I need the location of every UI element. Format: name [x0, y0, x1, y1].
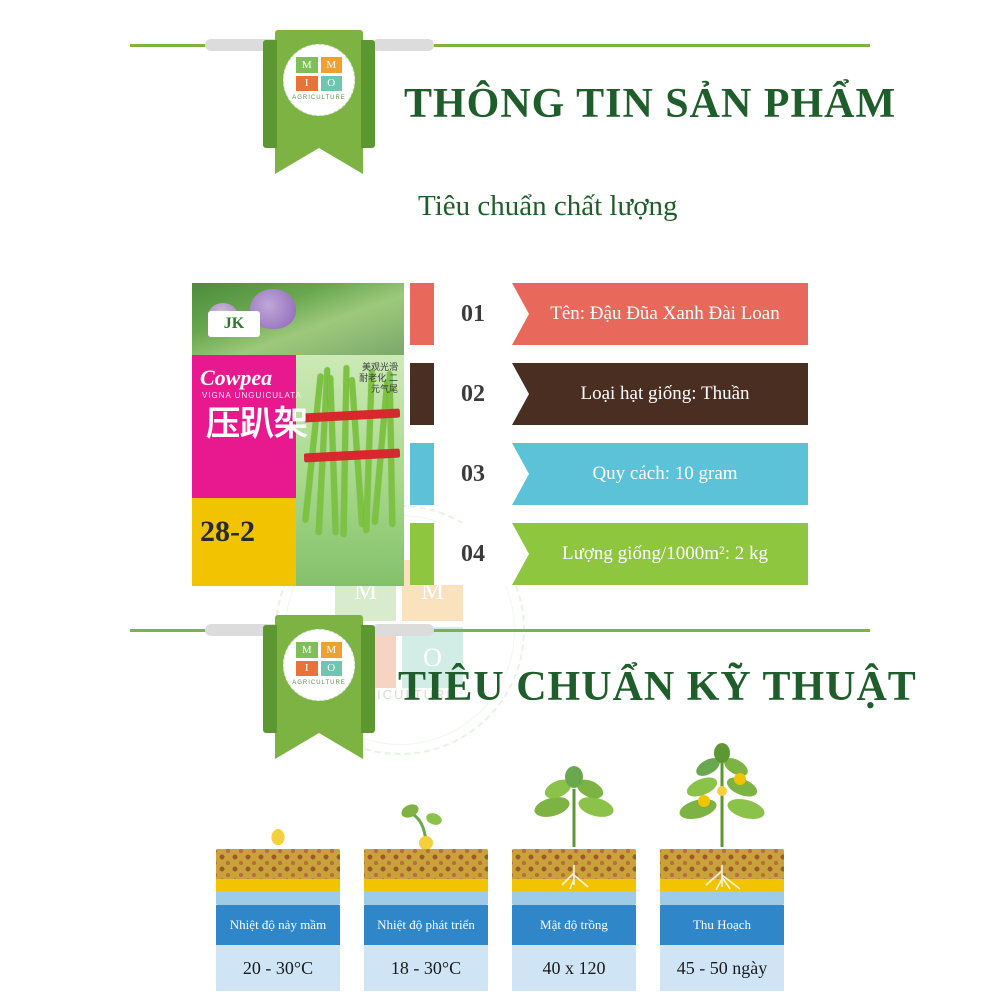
soil-base	[660, 891, 784, 905]
info-row-number: 04	[461, 541, 485, 568]
logo-cell-4: O	[321, 76, 343, 92]
logo-cell-2: M	[321, 57, 343, 73]
tech-card-label: Nhiệt độ nảy mầm	[216, 905, 340, 945]
seed-icon	[216, 775, 340, 849]
flowering-plant-svg	[660, 735, 784, 849]
sprout-svg	[364, 775, 488, 849]
banner2-side-right	[361, 625, 375, 733]
brand-logo-2: M M I O AGRICULTURE	[283, 629, 355, 701]
info-row-number-tag: 01	[434, 283, 512, 345]
brand-banner-top: M M I O AGRICULTURE	[275, 30, 363, 174]
packet-brand-mark: JK	[208, 311, 260, 337]
brand-logo-grid: M M I O	[296, 57, 342, 91]
info-row: 01 Tên: Đậu Đũa Xanh Đài Loan	[410, 283, 808, 345]
tech-card-value: 20 - 30°C	[216, 945, 340, 991]
root-svg	[512, 865, 636, 891]
packet-vertical-text: 美观光滑 耐老化 二元气尾	[358, 363, 398, 396]
tech-card: Nhiệt độ nảy mầm 20 - 30°C	[216, 775, 340, 991]
tech-card-value: 45 - 50 ngày	[660, 945, 784, 991]
brand-logo: M M I O AGRICULTURE	[283, 44, 355, 116]
info-row-text: Tên: Đậu Đũa Xanh Đài Loan	[528, 283, 802, 345]
soil-block	[660, 849, 784, 905]
sprout-icon	[364, 775, 488, 849]
soil-block	[364, 849, 488, 905]
tech-card-label: Nhiệt độ phát triển	[364, 905, 488, 945]
packet-product-title: Cowpea	[200, 365, 272, 391]
tech-card-value: 18 - 30°C	[364, 945, 488, 991]
tech-card-value: 40 x 120	[512, 945, 636, 991]
section-title-product-info: THÔNG TIN SẢN PHẨM	[404, 80, 896, 128]
banner2-side-left	[263, 625, 277, 733]
logo-caption: AGRICULTURE	[284, 95, 354, 101]
section-title-technical: TIÊU CHUẨN KỸ THUẬT	[398, 663, 917, 711]
soil-base	[512, 891, 636, 905]
banner-side-left	[263, 40, 277, 148]
tech-card-label: Thu Hoạch	[660, 905, 784, 945]
info-row-arrow-icon	[512, 283, 529, 345]
logo2-cell-4: O	[321, 661, 343, 677]
root-svg	[660, 865, 784, 891]
packet-chinese-name: 压趴架	[206, 407, 308, 441]
soil-texture	[216, 849, 340, 879]
banner2-notch	[275, 733, 363, 759]
info-row: 03 Quy cách: 10 gram	[410, 443, 808, 505]
brand-logo-grid-2: M M I O	[296, 642, 342, 676]
header2-bar-right	[372, 624, 434, 636]
logo-cell-1: M	[296, 57, 318, 73]
logo2-cell-3: I	[296, 661, 318, 677]
info-row-text: Lượng giống/1000m²: 2 kg	[528, 523, 802, 585]
packet-body: Cowpea VIGNA UNGUICULATA 压趴架 28-2 美观光滑 耐…	[192, 355, 404, 586]
info-row-arrow-icon	[512, 363, 529, 425]
info-row-text: Loại hạt giống: Thuần	[528, 363, 802, 425]
info-row-number-tag: 03	[434, 443, 512, 505]
packet-top-art: JK	[192, 283, 404, 355]
info-row-number-tag: 02	[434, 363, 512, 425]
soil-texture	[364, 849, 488, 879]
logo2-cell-2: M	[321, 642, 343, 658]
info-row: 02 Loại hạt giống: Thuần	[410, 363, 808, 425]
banner-side-right	[361, 40, 375, 148]
flowering-plant-icon	[660, 735, 784, 849]
info-row: 04 Lượng giống/1000m²: 2 kg	[410, 523, 808, 585]
tech-card-label: Mật độ trồng	[512, 905, 636, 945]
info-row-arrow-icon	[512, 523, 529, 585]
young-plant-icon	[512, 755, 636, 849]
section-subtitle-quality: Tiêu chuẩn chất lượng	[418, 190, 678, 223]
packet-product-subtitle: VIGNA UNGUICULATA	[202, 391, 302, 400]
header-bar-right	[372, 39, 434, 51]
soil-block	[216, 849, 340, 905]
logo2-cell-1: M	[296, 642, 318, 658]
poster-canvas: M M I O AGRICULTURE M M I O AGRICULTURE …	[0, 0, 1000, 1000]
packet-variety-number: 28-2	[200, 515, 255, 549]
soil-base	[216, 891, 340, 905]
tech-card: Nhiệt độ phát triển 18 - 30°C	[364, 775, 488, 991]
info-row-text: Quy cách: 10 gram	[528, 443, 802, 505]
logo-cell-3: I	[296, 76, 318, 92]
info-row-arrow-icon	[512, 443, 529, 505]
info-row-number: 03	[461, 461, 485, 488]
banner-notch	[275, 148, 363, 174]
young-plant-svg	[512, 755, 636, 849]
info-row-number: 02	[461, 381, 485, 408]
info-row-number-tag: 04	[434, 523, 512, 585]
product-packet-image: JK Cowpea VIGNA UNGUICULATA 压趴架 28-2 美观光…	[192, 283, 404, 586]
tech-card: Mật độ trồng 40 x 120	[512, 755, 636, 991]
info-row-number: 01	[461, 301, 485, 328]
logo2-caption: AGRICULTURE	[284, 680, 354, 686]
soil-base	[364, 891, 488, 905]
brand-banner-bottom: M M I O AGRICULTURE	[275, 615, 363, 759]
tech-card: Thu Hoạch 45 - 50 ngày	[660, 735, 784, 991]
soil-block	[512, 849, 636, 905]
